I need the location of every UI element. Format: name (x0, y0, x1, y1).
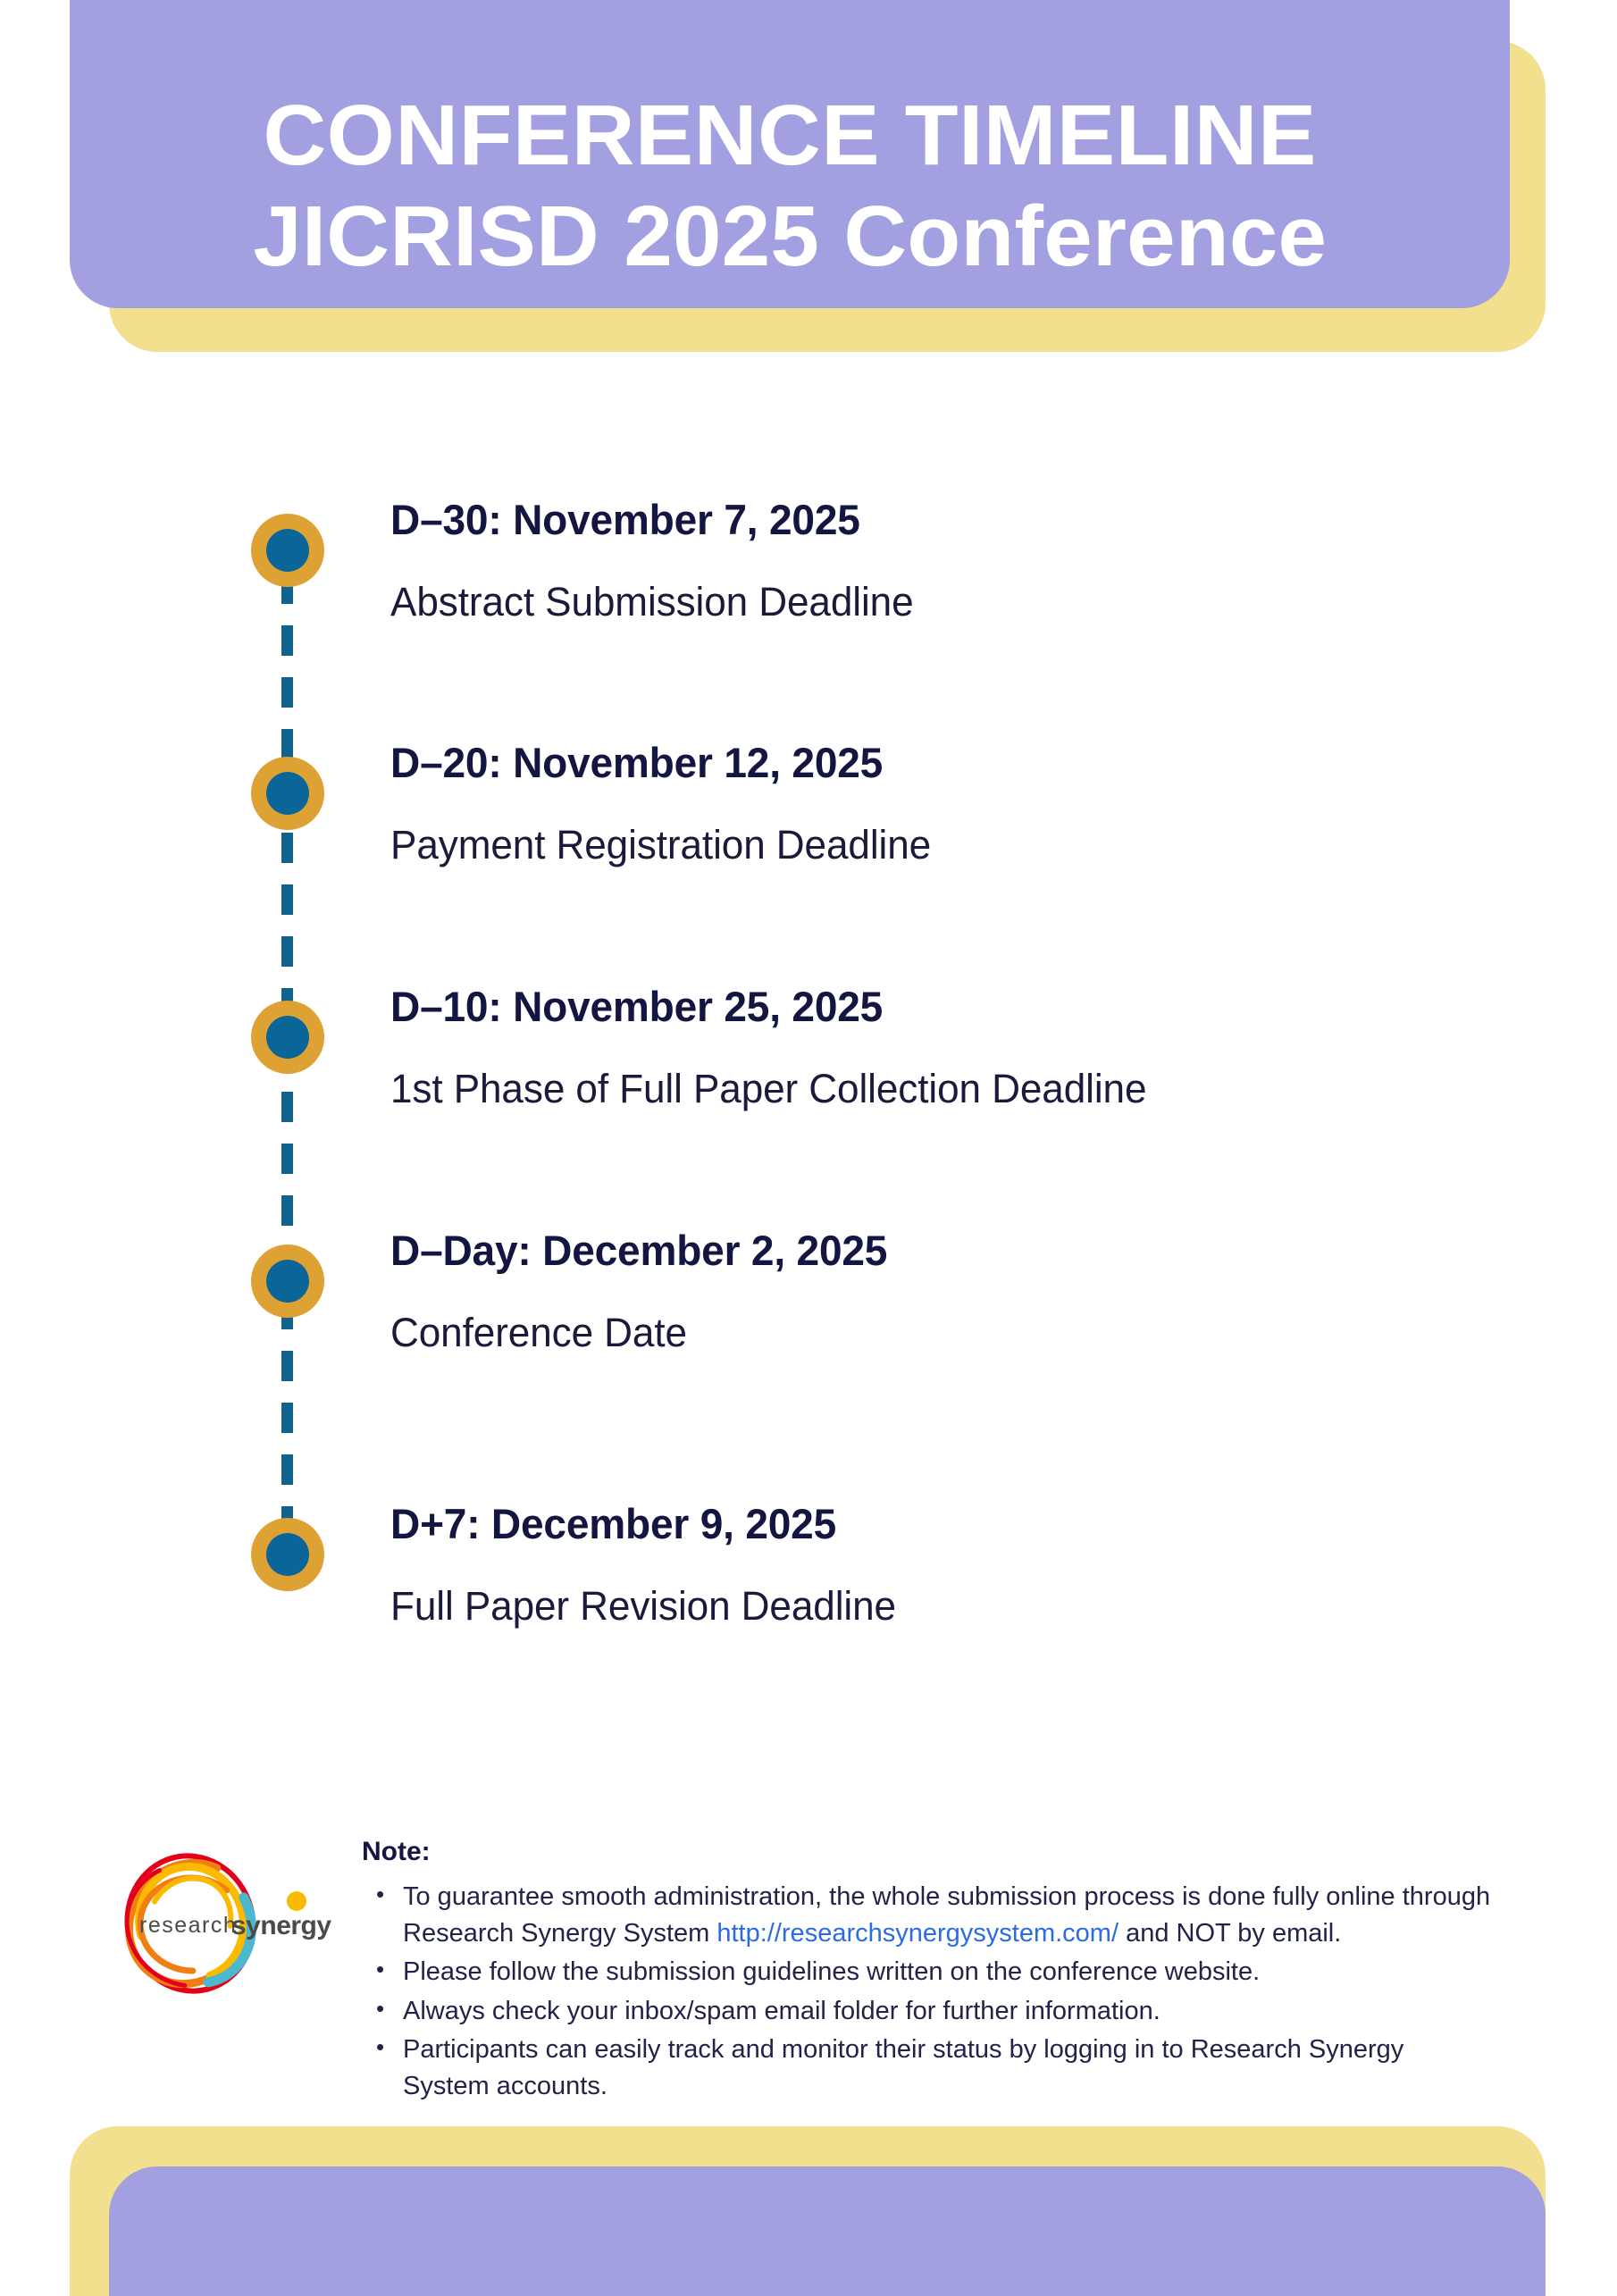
timeline-item-text: D–10: November 25, 2025 1st Phase of Ful… (390, 984, 1552, 1110)
note-text-group: Note: To guarantee smooth administration… (362, 1836, 1496, 2107)
footer-band (0, 2117, 1617, 2287)
timeline-item-description: Full Paper Revision Deadline (390, 1584, 1529, 1629)
header-card: CONFERENCE TIMELINE JICRISD 2025 Confere… (70, 0, 1510, 308)
note-list-item: Always check your inbox/spam email folde… (403, 1993, 1496, 2030)
timeline-item-text: D+7: December 9, 2025 Full Paper Revisio… (390, 1501, 1552, 1628)
timeline-marker-dot-icon (266, 529, 309, 572)
footer-card (109, 2166, 1546, 2296)
timeline-item-text: D–30: November 7, 2025 Abstract Submissi… (390, 497, 1552, 624)
note-list-item: Please follow the submission guidelines … (403, 1954, 1496, 1990)
timeline-item-date: D–20: November 12, 2025 (390, 740, 1529, 786)
note-item-text-before: Always check your inbox/spam email folde… (403, 1997, 1160, 2025)
timeline-item-description: Abstract Submission Deadline (390, 580, 1529, 624)
timeline-marker-dot-icon (266, 772, 309, 815)
note-item-text-after: and NOT by email. (1118, 1919, 1341, 1948)
note-list-item: To guarantee smooth administration, the … (403, 1879, 1496, 1951)
svg-text:synergy: synergy (231, 1911, 331, 1940)
page-title-primary: CONFERENCE TIMELINE (263, 88, 1316, 184)
timeline-marker-dot-icon (266, 1016, 309, 1059)
note-list: To guarantee smooth administration, the … (362, 1879, 1496, 2105)
header-band: CONFERENCE TIMELINE JICRISD 2025 Confere… (0, 0, 1617, 375)
page-title-secondary: JICRISD 2025 Conference (253, 189, 1327, 285)
timeline-marker-icon (251, 1244, 324, 1318)
timeline-item-description: Payment Registration Deadline (390, 823, 1529, 867)
timeline-item-date: D–30: November 7, 2025 (390, 497, 1529, 543)
note-block: research synergy Note: To guarantee smoo… (0, 1836, 1617, 2104)
timeline-item-description: Conference Date (390, 1311, 1529, 1355)
timeline-item-description: 1st Phase of Full Paper Collection Deadl… (390, 1067, 1529, 1111)
timeline-marker-dot-icon (266, 1533, 309, 1576)
timeline-marker-icon (251, 757, 324, 830)
timeline-item-date: D–Day: December 2, 2025 (390, 1228, 1529, 1274)
timeline-item-text: D–Day: December 2, 2025 Conference Date (390, 1228, 1552, 1354)
timeline-marker-icon (251, 1001, 324, 1074)
timeline-item-date: D+7: December 9, 2025 (390, 1501, 1529, 1547)
note-item-text-before: Please follow the submission guidelines … (403, 1957, 1260, 1986)
timeline-item-date: D–10: November 25, 2025 (390, 984, 1529, 1030)
research-synergy-logo-icon: research synergy (105, 1845, 342, 2001)
timeline-marker-dot-icon (266, 1260, 309, 1303)
research-synergy-system-link[interactable]: http://researchsynergysystem.com/ (716, 1919, 1118, 1948)
timeline-item-text: D–20: November 12, 2025 Payment Registra… (390, 740, 1552, 867)
timeline-marker-icon (251, 514, 324, 587)
note-title: Note: (362, 1836, 1496, 1868)
note-list-item: Participants can easily track and monito… (403, 2032, 1496, 2104)
note-item-text-before: Participants can easily track and monito… (403, 2035, 1403, 2100)
timeline-marker-icon (251, 1518, 324, 1591)
research-synergy-logo: research synergy (105, 1845, 342, 2001)
svg-text:research: research (139, 1913, 237, 1938)
